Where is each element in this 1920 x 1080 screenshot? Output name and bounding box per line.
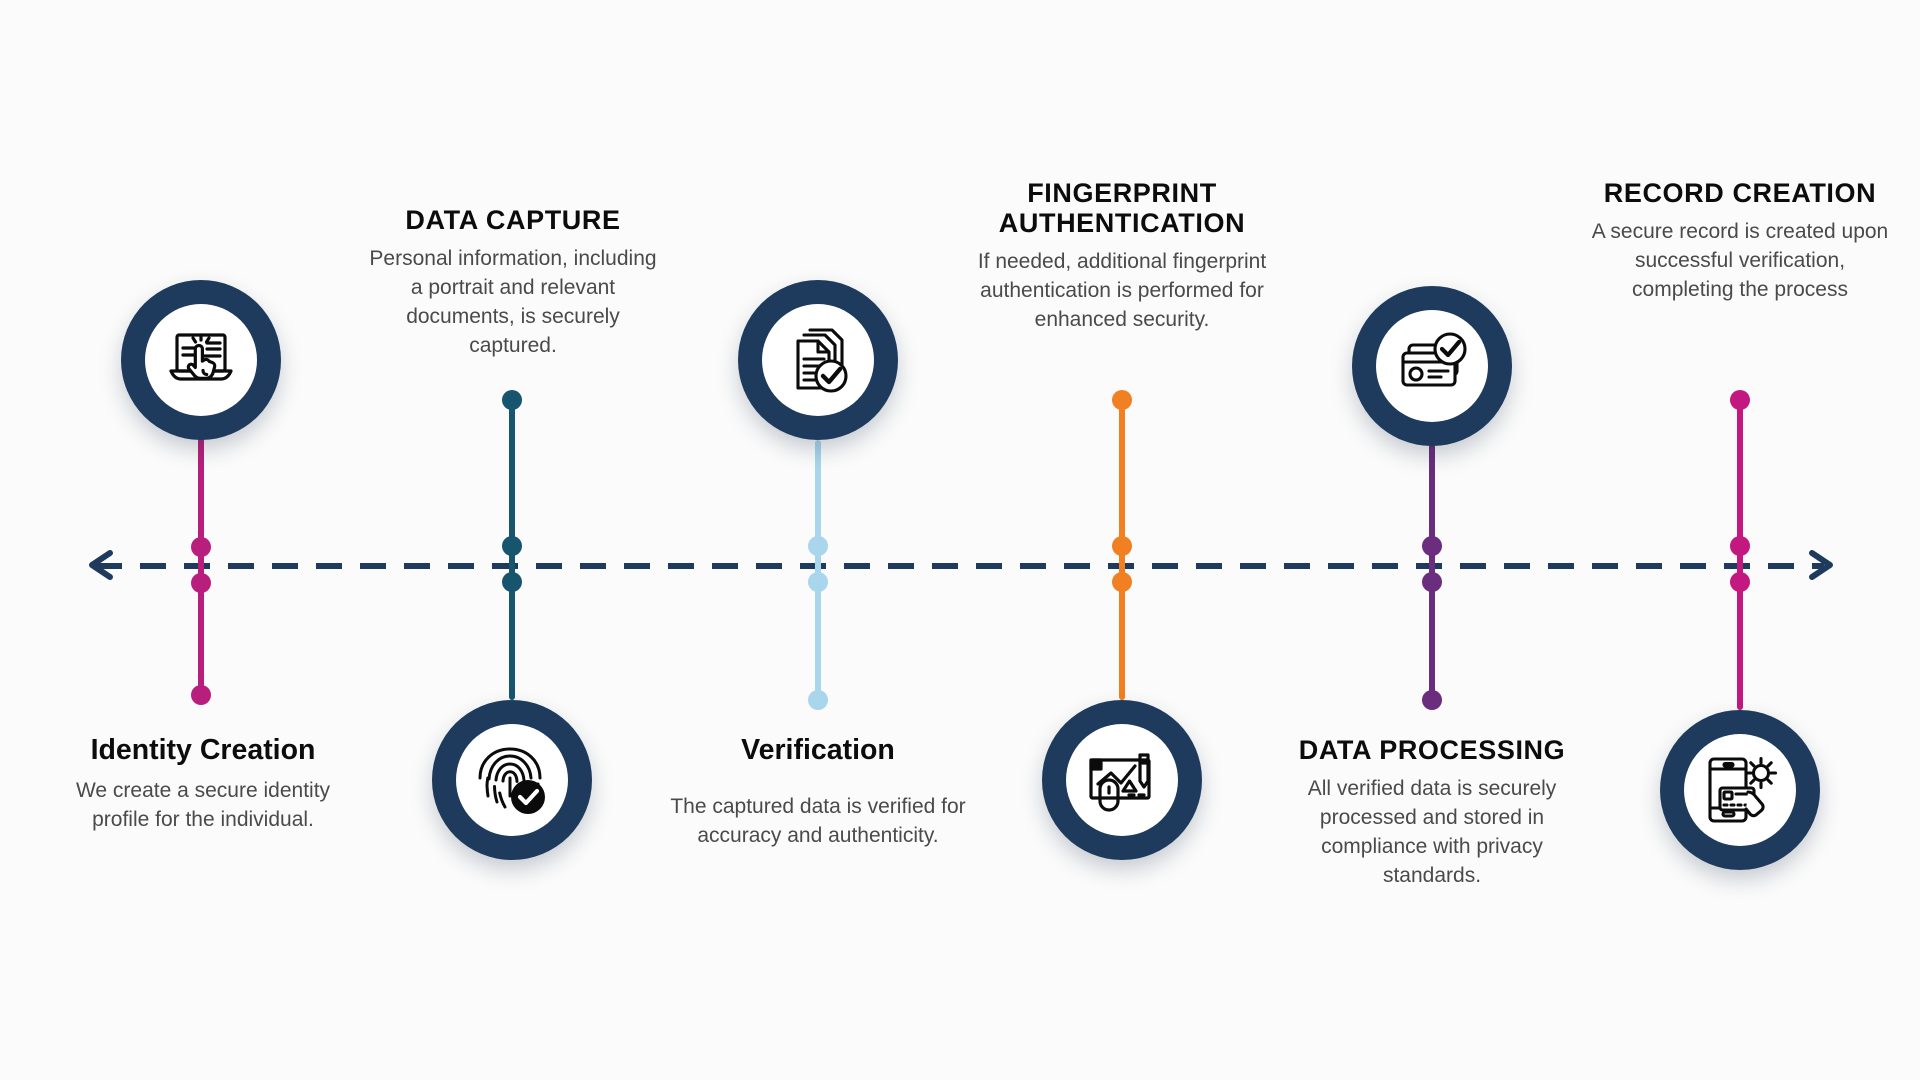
step-title: Verification (668, 735, 968, 767)
step-icon-identity-creation[interactable] (121, 280, 281, 440)
step-text-data-capture: DATA CAPTURE Personal information, inclu… (363, 205, 663, 361)
step-text-record-creation: RECORD CREATION A secure record is creat… (1590, 178, 1890, 305)
badge-face (1684, 734, 1796, 846)
smartphone-card-gear-icon (1700, 750, 1780, 830)
documents-check-icon (780, 322, 856, 398)
step-description: A secure record is created upon successf… (1590, 218, 1890, 305)
connector-verification (815, 440, 821, 700)
step-text-fingerprint-authentication: FINGERPRINT AUTHENTICATION If needed, ad… (970, 178, 1275, 335)
step-icon-data-processing[interactable] (1352, 286, 1512, 446)
connector-fingerprint-authentication (1119, 400, 1125, 700)
badge-face (1376, 310, 1488, 422)
timeline-axis (96, 563, 1824, 569)
step-description: The captured data is verified for accura… (668, 793, 968, 851)
step-text-verification: Verification The captured data is verifi… (668, 735, 968, 851)
step-icon-record-creation[interactable] (1660, 710, 1820, 870)
arrow-left-icon (80, 541, 128, 589)
id-cards-check-icon (1393, 327, 1471, 405)
connector-record-creation (1737, 400, 1743, 710)
badge-face (145, 304, 257, 416)
arrow-right-icon (1794, 541, 1842, 589)
badge-face (1066, 724, 1178, 836)
step-description: Personal information, including a portra… (363, 245, 663, 361)
step-title: DATA CAPTURE (363, 205, 663, 235)
badge-face (762, 304, 874, 416)
step-icon-data-capture[interactable] (432, 700, 592, 860)
graphics-tablet-pencil-icon (1082, 740, 1162, 820)
step-title: Identity Creation (48, 735, 358, 767)
step-description: We create a secure identity profile for … (48, 777, 358, 835)
step-icon-verification[interactable] (738, 280, 898, 440)
step-text-identity-creation: Identity Creation We create a secure ide… (48, 735, 358, 835)
infographic-canvas: Identity Creation We create a secure ide… (0, 0, 1920, 1080)
connector-identity-creation (198, 435, 204, 695)
hand-click-screen-icon (163, 322, 239, 398)
step-icon-fingerprint-authentication[interactable] (1042, 700, 1202, 860)
step-description: If needed, additional fingerprint authen… (970, 248, 1275, 335)
fingerprint-check-icon (472, 740, 552, 820)
step-title: RECORD CREATION (1590, 178, 1890, 208)
step-text-data-processing: DATA PROCESSING All verified data is sec… (1277, 735, 1587, 891)
badge-face (456, 724, 568, 836)
step-description: All verified data is securely processed … (1277, 775, 1587, 891)
step-title: DATA PROCESSING (1277, 735, 1587, 765)
connector-data-capture (509, 400, 515, 700)
step-title: FINGERPRINT AUTHENTICATION (970, 178, 1275, 238)
connector-data-processing (1429, 440, 1435, 700)
